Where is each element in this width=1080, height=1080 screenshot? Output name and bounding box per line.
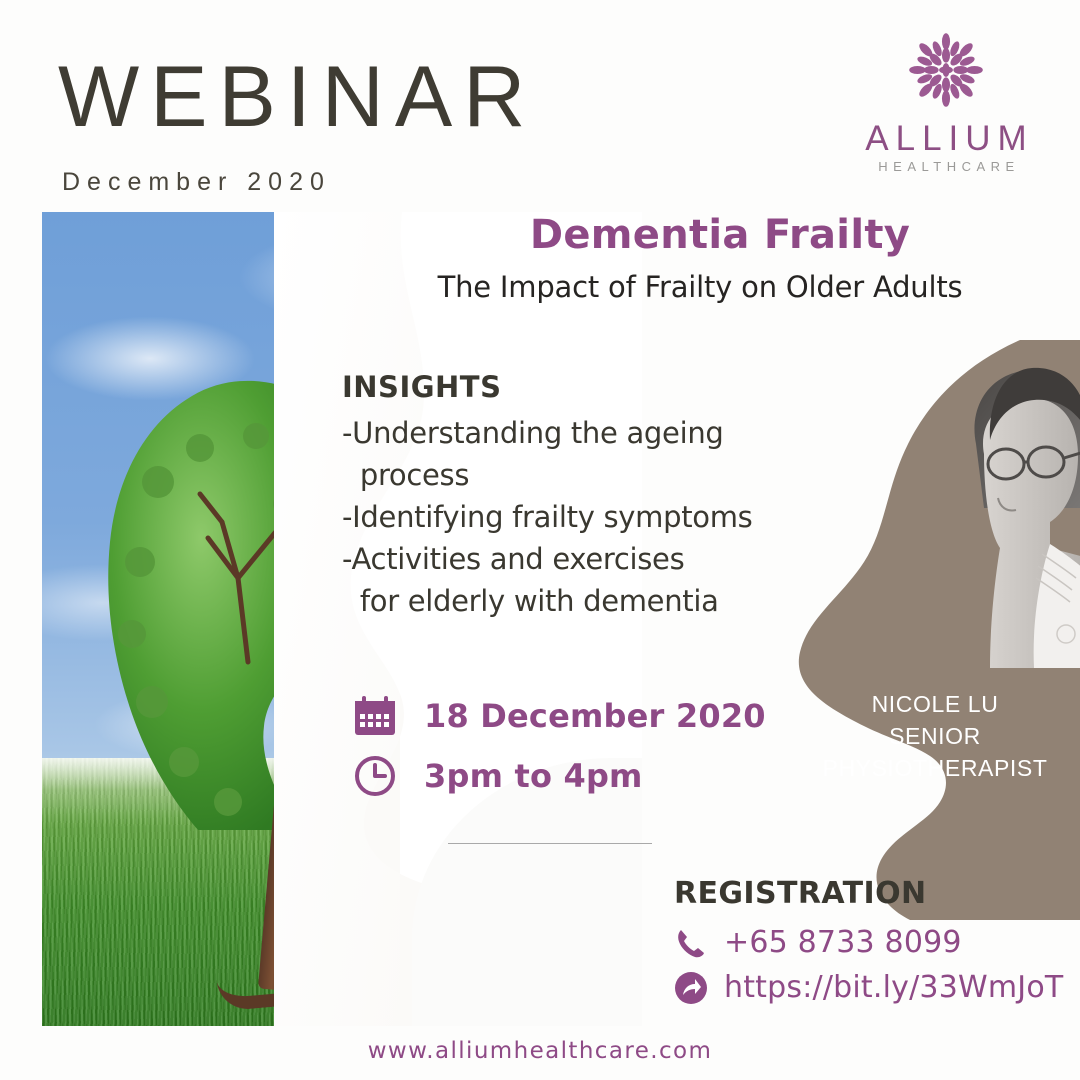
poster-canvas: WEBINAR December 2020	[0, 0, 1080, 1080]
brand-logo: ALLIUM HEALTHCARE	[846, 24, 1046, 174]
schedule-time-row: 3pm to 4pm	[352, 750, 766, 802]
registration-heading: REGISTRATION	[674, 876, 1063, 911]
schedule-section: 18 December 2020 3pm to 4pm	[352, 690, 766, 810]
speaker-caption: NICOLE LU SENIOR PHYSIOTHERAPIST	[790, 688, 1080, 784]
speaker-name: NICOLE LU	[790, 688, 1080, 720]
insights-item: -Identifying frailty symptoms	[342, 496, 862, 538]
registration-section: REGISTRATION +65 8733 8099 https://bit.l…	[674, 876, 1063, 1015]
event-date: 18 December 2020	[424, 697, 766, 735]
speaker-role-line2: PHYSIOTHERAPIST	[790, 752, 1080, 784]
schedule-date-row: 18 December 2020	[352, 690, 766, 742]
header-date: December 2020	[62, 168, 331, 197]
calendar-icon	[352, 693, 398, 739]
brand-name: ALLIUM	[846, 120, 1046, 158]
allium-flower-icon	[900, 24, 992, 116]
insights-item: -Activities and exercises	[342, 538, 862, 580]
registration-link-row[interactable]: https://bit.ly/33WmJoT	[674, 970, 1063, 1005]
registration-phone-row[interactable]: +65 8733 8099	[674, 925, 1063, 960]
speaker-portrait-photo	[938, 358, 1080, 668]
speaker-role-line1: SENIOR	[790, 720, 1080, 752]
speaker-silhouette	[790, 340, 1080, 920]
insights-item: -Understanding the ageing	[342, 412, 862, 454]
brand-tagline: HEALTHCARE	[846, 159, 1046, 174]
share-arrow-icon	[674, 971, 708, 1005]
page-title: WEBINAR	[58, 54, 536, 140]
insights-item: process	[342, 454, 862, 496]
insights-heading: INSIGHTS	[342, 370, 862, 404]
clock-icon	[352, 753, 398, 799]
insights-section: INSIGHTS -Understanding the ageing proce…	[342, 370, 862, 622]
registration-phone: +65 8733 8099	[724, 925, 962, 960]
section-divider	[448, 843, 652, 844]
webinar-subtitle: The Impact of Frailty on Older Adults	[370, 270, 1030, 304]
insights-item: for elderly with dementia	[342, 580, 862, 622]
webinar-topic-title: Dementia Frailty	[430, 212, 1010, 258]
footer-website[interactable]: www.alliumhealthcare.com	[0, 1038, 1080, 1064]
registration-link[interactable]: https://bit.ly/33WmJoT	[724, 970, 1063, 1005]
phone-icon	[674, 926, 708, 960]
event-time: 3pm to 4pm	[424, 757, 643, 795]
